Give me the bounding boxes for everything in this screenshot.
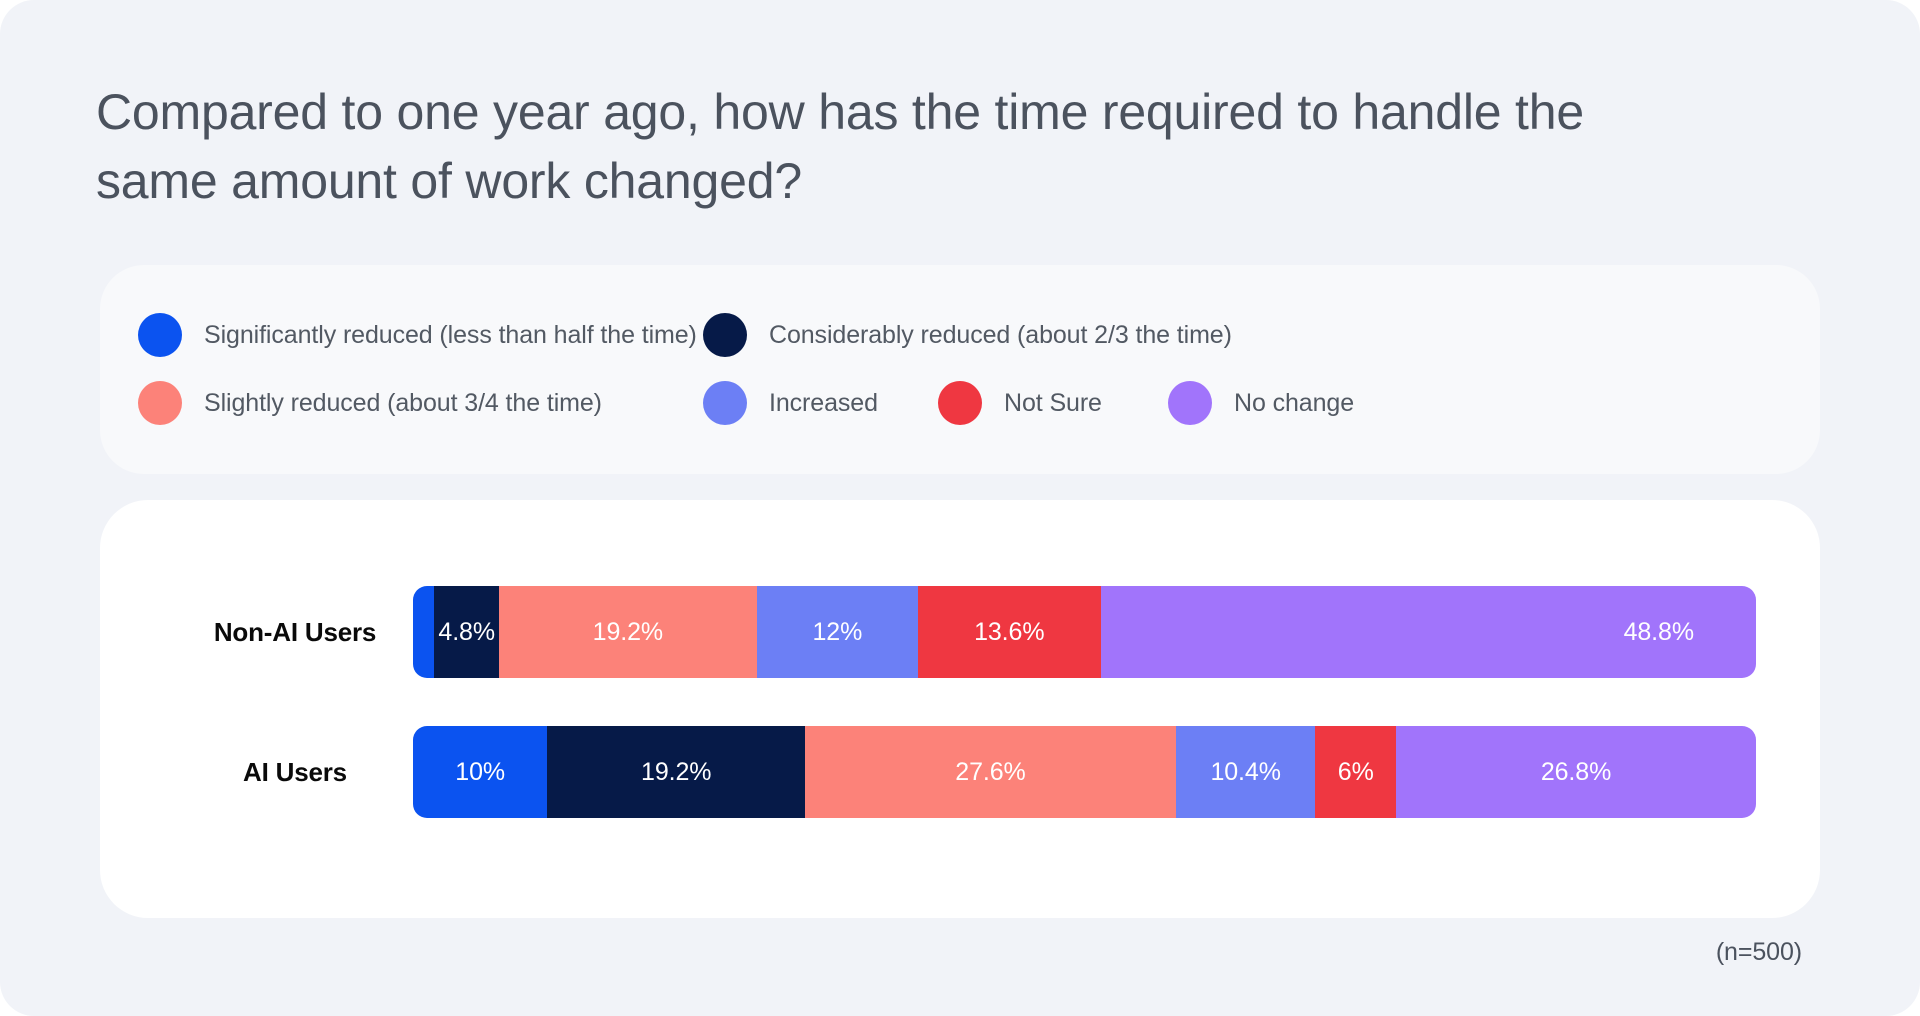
stacked-bar-non-ai-users: 4.8%19.2%12%13.6%48.8% [413, 586, 1756, 678]
legend-item[interactable]: Significantly reduced (less than half th… [138, 301, 703, 369]
bar-segment-value-label: 10.4% [1210, 758, 1280, 787]
legend-item-label: Considerably reduced (about 2/3 the time… [769, 321, 1232, 350]
bar-segment-value-label: 10% [455, 758, 505, 787]
legend-card: Significantly reduced (less than half th… [100, 265, 1820, 474]
sample-size-footnote: (n=500) [1716, 938, 1802, 967]
legend-item-label: Increased [769, 389, 878, 418]
bar-segment-no-change[interactable]: 48.8% [1101, 586, 1756, 678]
bar-segment-increased[interactable]: 10.4% [1176, 726, 1316, 818]
bar-segment-no-change[interactable]: 26.8% [1396, 726, 1756, 818]
bar-segment-value-label: 19.2% [593, 618, 663, 647]
title-block: Compared to one year ago, how has the ti… [96, 78, 1656, 216]
legend-dot-considerably-reduced [703, 313, 747, 357]
legend-dot-not-sure [938, 381, 982, 425]
bar-segment-value-label: 12% [812, 618, 862, 647]
chart-page: Compared to one year ago, how has the ti… [0, 0, 1920, 1016]
bar-segment-value-label: 19.2% [641, 758, 711, 787]
bar-segment-value-label: 27.6% [955, 758, 1025, 787]
stacked-bar-ai-users: 10%19.2%27.6%10.4%6%26.8% [413, 726, 1756, 818]
legend-item[interactable]: Increased [703, 369, 938, 437]
bar-segment-value-label: 48.8% [1624, 618, 1694, 647]
chart-card: Non-AI Users 1.6% 4.8%19.2%12%13.6%48.8%… [100, 500, 1820, 918]
bar-segment-significantly-reduced[interactable]: 10% [413, 726, 547, 818]
bar-row-non-ai-users: Non-AI Users 1.6% 4.8%19.2%12%13.6%48.8% [100, 586, 1820, 678]
bar-segment-value-label: 4.8% [438, 618, 495, 647]
bar-row-ai-users: AI Users 10%19.2%27.6%10.4%6%26.8% [100, 726, 1820, 818]
bar-segment-not-sure[interactable]: 6% [1315, 726, 1396, 818]
legend-item[interactable]: No change [1168, 369, 1408, 437]
bar-segment-value-label: 6% [1338, 758, 1374, 787]
legend-item-label: No change [1234, 389, 1354, 418]
legend-row-1: Significantly reduced (less than half th… [138, 301, 1782, 369]
bar-segment-increased[interactable]: 12% [757, 586, 918, 678]
bar-segment-considerably-reduced[interactable]: 4.8% [434, 586, 498, 678]
legend-dot-slightly-reduced [138, 381, 182, 425]
legend-item[interactable]: Not Sure [938, 369, 1168, 437]
legend-item-label: Not Sure [1004, 389, 1102, 418]
bar-segment-slightly-reduced[interactable]: 27.6% [805, 726, 1176, 818]
bar-segment-not-sure[interactable]: 13.6% [918, 586, 1101, 678]
bar-segment-value-label: 13.6% [974, 618, 1044, 647]
legend-dot-significantly-reduced [138, 313, 182, 357]
legend-item[interactable]: Slightly reduced (about 3/4 the time) [138, 369, 703, 437]
bar-segment-slightly-reduced[interactable]: 19.2% [499, 586, 757, 678]
legend-item-label: Slightly reduced (about 3/4 the time) [204, 389, 602, 418]
legend-item-label: Significantly reduced (less than half th… [204, 321, 697, 350]
legend-dot-increased [703, 381, 747, 425]
legend-row-2: Slightly reduced (about 3/4 the time)Inc… [138, 369, 1782, 437]
page-title: Compared to one year ago, how has the ti… [96, 78, 1656, 216]
bar-segment-value-label: 26.8% [1541, 758, 1611, 787]
legend-item[interactable]: Considerably reduced (about 2/3 the time… [703, 301, 1263, 369]
bar-segment-significantly-reduced[interactable] [413, 586, 434, 678]
bar-segment-considerably-reduced[interactable]: 19.2% [547, 726, 805, 818]
legend-dot-no-change [1168, 381, 1212, 425]
